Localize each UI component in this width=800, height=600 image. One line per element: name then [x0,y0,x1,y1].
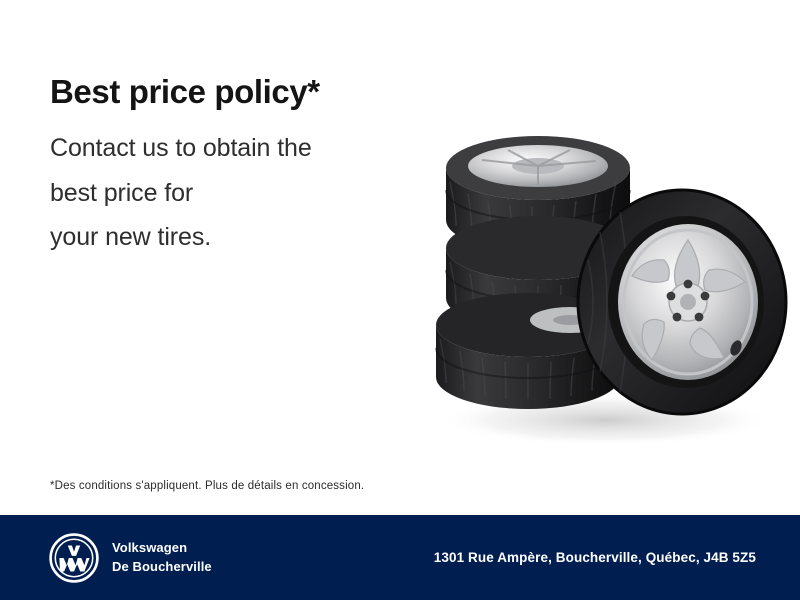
front-tire-with-alloy-wheel [578,190,786,414]
subheadline-line-2: best price for [50,171,430,216]
page-title: Best price policy* [50,74,430,110]
subheadline-line-3: your new tires. [50,215,430,260]
dealer-name: Volkswagen De Boucherville [112,539,212,577]
dealer-address: 1301 Rue Ampère, Boucherville, Québec, J… [434,550,756,565]
dealer-name-line-2: De Boucherville [112,558,212,577]
subheadline: Contact us to obtain the best price for … [50,126,430,260]
dealer-name-line-1: Volkswagen [112,539,212,558]
disclaimer-text: *Des conditions s'appliquent. Plus de dé… [50,480,364,492]
promo-banner: Best price policy* Contact us to obtain … [0,0,800,600]
copy-block: Best price policy* Contact us to obtain … [50,74,430,260]
subheadline-line-1: Contact us to obtain the [50,126,430,171]
dealer-brand: Volkswagen De Boucherville [48,532,212,584]
footer-bar: Volkswagen De Boucherville 1301 Rue Ampè… [0,515,800,600]
volkswagen-logo [48,532,100,584]
stacked-tires-image [420,120,800,450]
